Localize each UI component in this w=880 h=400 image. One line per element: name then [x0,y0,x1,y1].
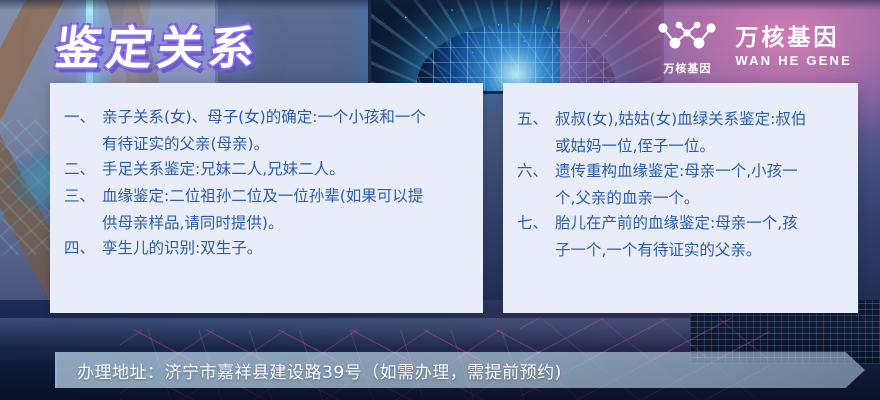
list-item-text: 孪生儿的识别:双生子。 [102,236,469,261]
list-item-number: 三、 [64,184,102,209]
list-item-text-cont: 有待证实的父亲(母亲)。 [102,132,469,157]
list-item-number: 七、 [517,211,555,236]
list-item-continuation: 个,父亲的血亲一个。 [517,186,844,211]
list-item-continuation: 有待证实的父亲(母亲)。 [64,132,469,157]
list-item: 五、 叔叔(女),姑姑(女)血绿关系鉴定:叔伯 [517,107,844,132]
service-list-panel-right: 五、 叔叔(女),姑姑(女)血绿关系鉴定:叔伯 或姑妈一位,侄子一位。 六、 遗… [503,83,858,313]
brand-wordmark: 万核基因 WAN HE GENE [735,26,852,68]
list-item-number: 一、 [64,105,102,130]
brand-name-en: WAN HE GENE [735,53,852,68]
service-list-panel-left: 一、 亲子关系(女)、母子(女)的确定:一个小孩和一个 有待证实的父亲(母亲)。… [50,83,483,313]
brand-mark: 万核基因 [655,18,719,76]
background-top-fade [0,0,880,10]
list-item-continuation: 子一个,一个有待证实的父亲。 [517,238,844,263]
list-item-number: 六、 [517,159,555,184]
list-item-number: 四、 [64,236,102,261]
list-item-text: 手足关系鉴定:兄妹二人,兄妹二人。 [102,157,469,182]
list-item-text: 遗传重构血缘鉴定:母亲一个,小孩一 [555,159,844,184]
list-item-text: 叔叔(女),姑姑(女)血绿关系鉴定:叔伯 [555,107,844,132]
list-item-continuation: 供母亲样品,请同时提供)。 [64,211,469,236]
list-item: 一、 亲子关系(女)、母子(女)的确定:一个小孩和一个 [64,105,469,130]
brand-name-cn: 万核基因 [735,26,839,51]
molecule-icon [655,18,719,57]
list-item: 六、 遗传重构血缘鉴定:母亲一个,小孩一 [517,159,844,184]
list-item-continuation: 或姑妈一位,侄子一位。 [517,134,844,159]
list-item-number: 二、 [64,157,102,182]
address-banner: 办理地址：济宁市嘉祥县建设路39号（如需办理，需提前预约) [55,352,865,388]
brand-mark-caption: 万核基因 [663,60,711,76]
list-item-text-cont: 个,父亲的血亲一个。 [555,186,844,211]
list-item: 七、 胎儿在产前的血缘鉴定:母亲一个,孩 [517,211,844,236]
poster-root: 鉴定关系 万核 [0,0,880,400]
list-item: 二、 手足关系鉴定:兄妹二人,兄妹二人。 [64,157,469,182]
list-item-text-cont: 或姑妈一位,侄子一位。 [555,134,844,159]
list-item-text-cont: 子一个,一个有待证实的父亲。 [555,238,844,263]
address-text: 办理地址：济宁市嘉祥县建设路39号（如需办理，需提前预约) [55,358,562,383]
page-title: 鉴定关系 [52,12,264,78]
list-item: 四、 孪生儿的识别:双生子。 [64,236,469,261]
list-item-text: 亲子关系(女)、母子(女)的确定:一个小孩和一个 [102,105,469,130]
list-item-text: 血缘鉴定:二位祖孙二位及一位孙辈(如果可以提 [102,184,469,209]
list-item: 三、 血缘鉴定:二位祖孙二位及一位孙辈(如果可以提 [64,184,469,209]
list-item-text-cont: 供母亲样品,请同时提供)。 [102,211,469,236]
brand-logo: 万核基因 万核基因 WAN HE GENE [655,18,852,76]
list-item-number: 五、 [517,107,555,132]
list-item-text: 胎儿在产前的血缘鉴定:母亲一个,孩 [555,211,844,236]
